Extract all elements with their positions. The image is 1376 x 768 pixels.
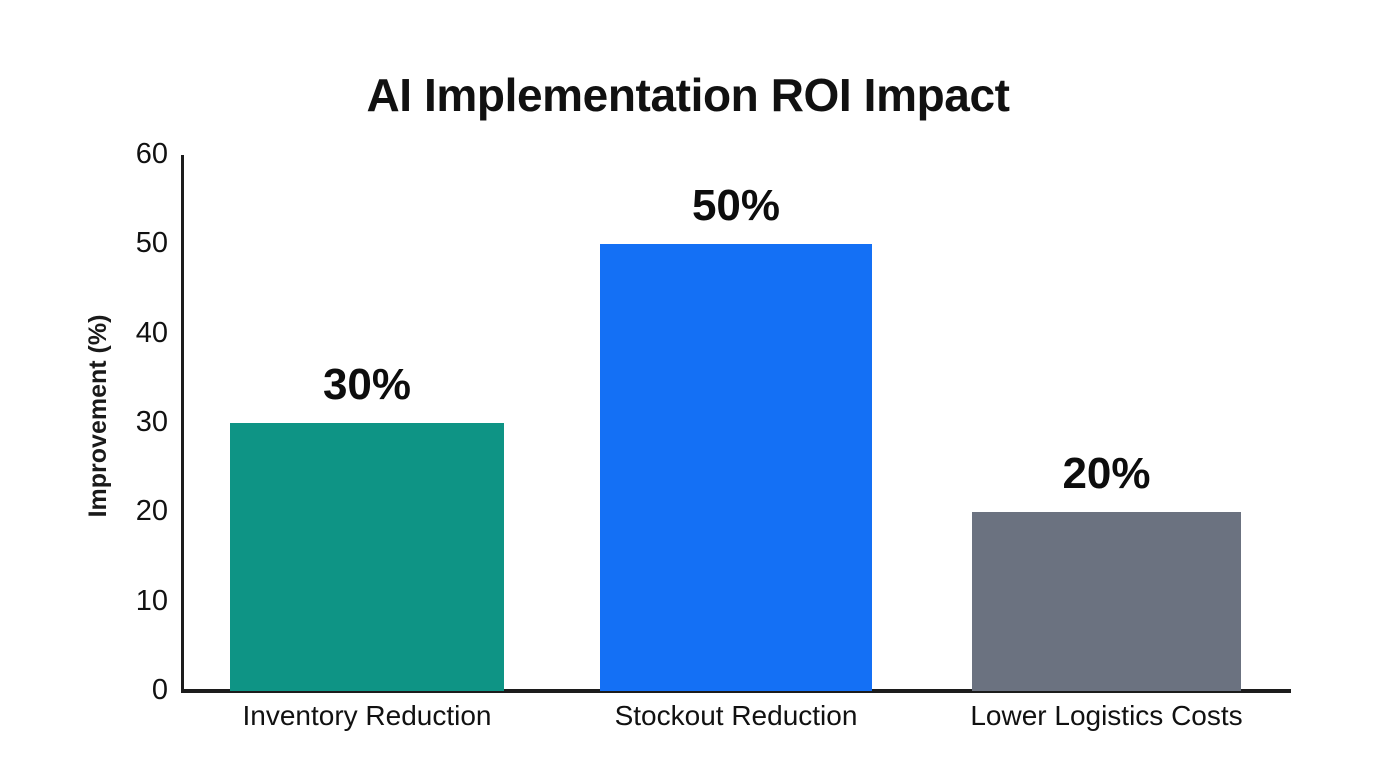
y-axis-tick-label: 0: [108, 676, 168, 705]
plot-area: 30%50%20%: [181, 155, 1290, 691]
bar-value-label: 30%: [230, 363, 504, 407]
y-axis-tick-label: 40: [108, 319, 168, 348]
bar-value-label: 20%: [972, 452, 1241, 496]
x-axis-tick-label: Lower Logistics Costs: [932, 702, 1281, 730]
y-axis-tick-label: 30: [108, 408, 168, 437]
bar[interactable]: [600, 244, 872, 691]
bar-value-label: 50%: [600, 184, 872, 228]
y-axis-tick-label: 60: [108, 140, 168, 169]
x-axis-tick-label: Stockout Reduction: [560, 702, 912, 730]
y-axis-title: Improvement (%): [84, 0, 113, 266]
chart-title: AI Implementation ROI Impact: [0, 68, 1376, 122]
x-axis-tick-label: Inventory Reduction: [190, 702, 544, 730]
y-axis-tick-label: 10: [108, 587, 168, 616]
bar[interactable]: [972, 512, 1241, 691]
y-axis-tick-label: 50: [108, 229, 168, 258]
y-axis-tick-label: 20: [108, 497, 168, 526]
bar[interactable]: [230, 423, 504, 691]
bar-chart-figure: AI Implementation ROI Impact Improvement…: [0, 0, 1376, 768]
